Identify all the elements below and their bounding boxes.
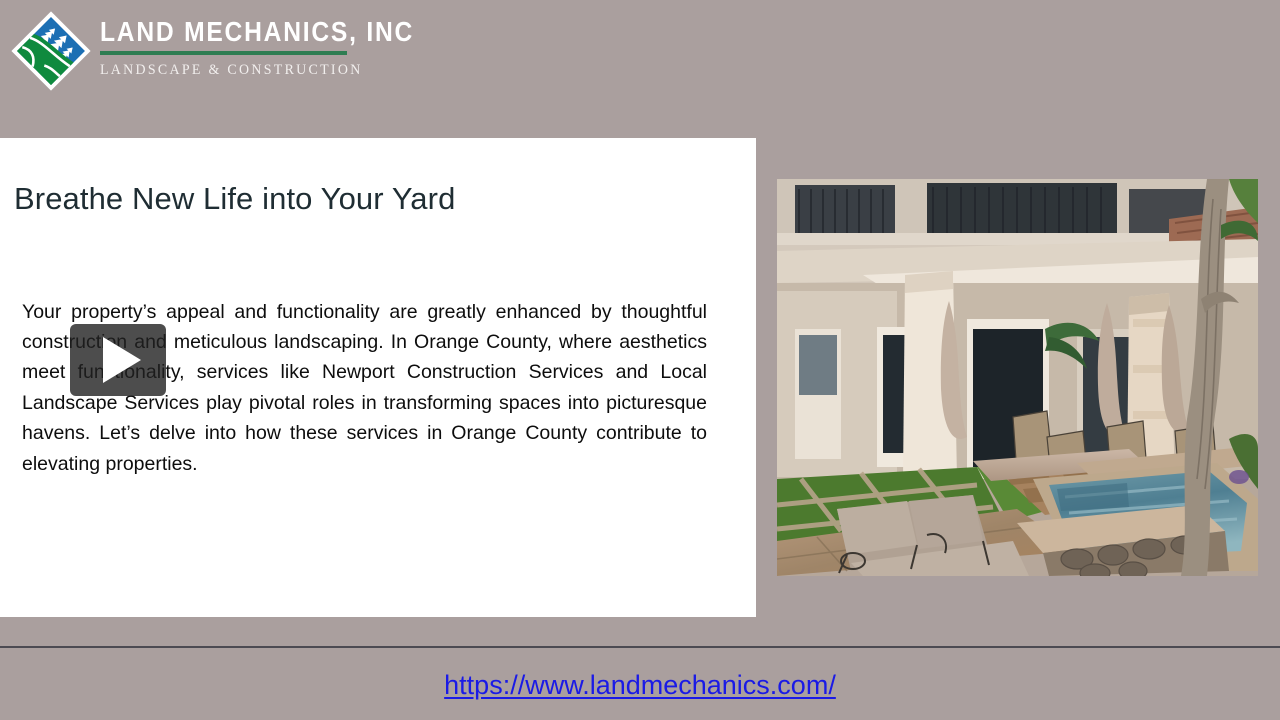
footer-divider xyxy=(0,646,1280,648)
company-name: LAND MECHANICS, INC xyxy=(100,16,329,48)
wordmark-divider xyxy=(100,51,347,55)
play-button[interactable] xyxy=(70,324,166,396)
page-title: Breathe New Life into Your Yard xyxy=(14,180,734,218)
play-triangle-icon xyxy=(103,337,141,383)
backyard-photo xyxy=(777,179,1258,576)
company-logo-icon xyxy=(6,6,96,96)
company-tagline: LANDSCAPE & CONSTRUCTION xyxy=(100,61,350,79)
presentation-slide: LAND MECHANICS, INC LANDSCAPE & CONSTRUC… xyxy=(0,0,1280,720)
website-url-link[interactable]: https://www.landmechanics.com/ xyxy=(0,668,1280,702)
brand-wordmark: LAND MECHANICS, INC LANDSCAPE & CONSTRUC… xyxy=(100,16,360,79)
header-bar: LAND MECHANICS, INC LANDSCAPE & CONSTRUC… xyxy=(0,0,1280,138)
